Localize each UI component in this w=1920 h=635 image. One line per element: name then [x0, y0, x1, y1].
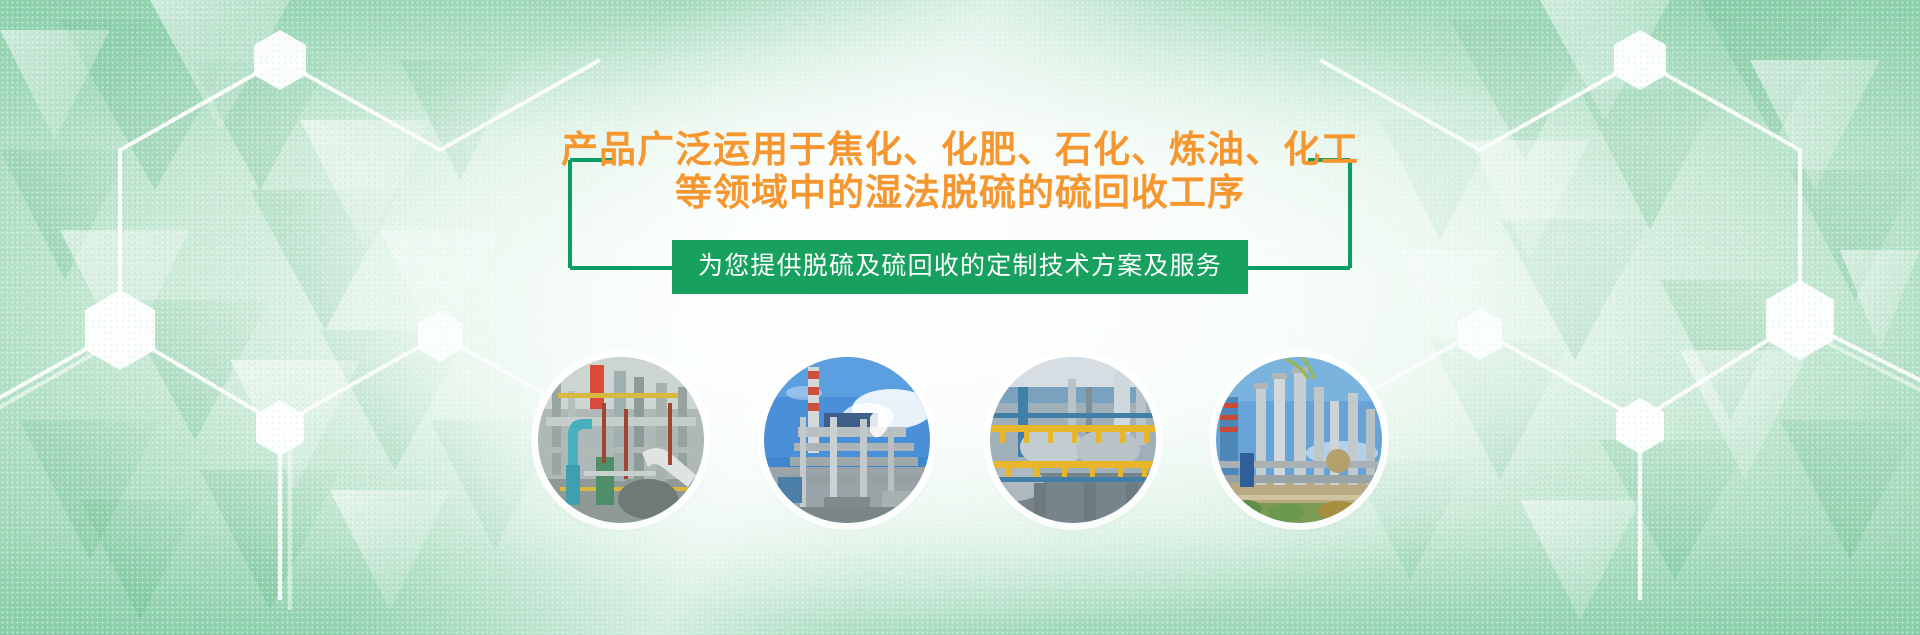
headline: 产品广泛运用于焦化、化肥、石化、炼油、化工 等领域中的湿法脱硫的硫回收工序	[0, 128, 1920, 214]
photo-storage-vessels	[990, 357, 1156, 523]
photo-desulfurization-pipework-image	[538, 357, 704, 523]
headline-line-2: 等领域中的湿法脱硫的硫回收工序	[0, 171, 1920, 214]
photo-refinery-columns-image	[1216, 357, 1382, 523]
background-halftone-dots-dark	[0, 0, 1920, 635]
headline-line-1: 产品广泛运用于焦化、化肥、石化、炼油、化工	[0, 128, 1920, 171]
photo-desulfurization-pipework	[538, 357, 704, 523]
subtitle-bar: 为您提供脱硫及硫回收的定制技术方案及服务	[672, 240, 1248, 294]
promo-banner: 产品广泛运用于焦化、化肥、石化、炼油、化工 等领域中的湿法脱硫的硫回收工序 为您…	[0, 0, 1920, 635]
photo-storage-vessels-image	[990, 357, 1156, 523]
photo-gallery	[538, 357, 1382, 523]
photo-refinery-columns	[1216, 357, 1382, 523]
photo-stack-plant-image	[764, 357, 930, 523]
photo-stack-plant	[764, 357, 930, 523]
